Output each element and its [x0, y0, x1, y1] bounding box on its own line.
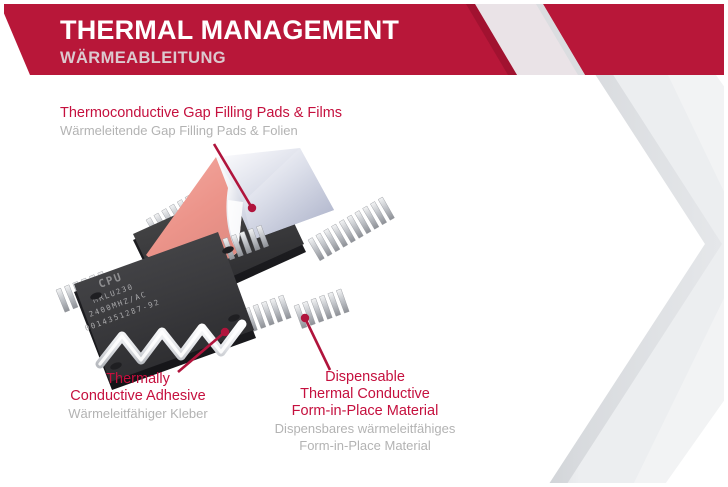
callout-fip-en-line-3: Form-in-Place Material	[255, 403, 475, 420]
lower-chip: CPU MRLU230 2400MHZ/AC 0014351287-92	[56, 225, 349, 390]
slide-canvas: THERMAL MANAGEMENT WÄRMEABLEITUNG	[0, 0, 728, 487]
chevron-outer-shape	[556, 0, 728, 487]
chevron-main-shape	[547, 0, 728, 487]
page-subtitle: WÄRMEABLEITUNG	[60, 48, 530, 68]
callout-thermally-conductive-adhesive: Thermally Conductive Adhesive Wärmeleitf…	[48, 371, 228, 422]
callout-adhesive-de-line-1: Wärmeleitfähiger Kleber	[48, 405, 228, 422]
page-title: THERMAL MANAGEMENT	[60, 14, 530, 46]
callout-form-in-place-material: Dispensable Thermal Conductive Form-in-P…	[255, 369, 475, 454]
callout-fip-en-line-1: Dispensable	[255, 369, 475, 386]
callout-fip-de-line-2: Form-in-Place Material	[255, 437, 475, 454]
callout-gap-filling-de-line-1: Wärmeleitende Gap Filling Pads & Folien	[60, 122, 342, 139]
callout-adhesive-en-line-2: Conductive Adhesive	[48, 388, 228, 405]
callout-gap-filling: Thermoconductive Gap Filling Pads & Film…	[60, 105, 342, 139]
header-chevron-overlay-edge	[536, 4, 585, 75]
callout-gap-filling-en-line-1: Thermoconductive Gap Filling Pads & Film…	[60, 105, 342, 122]
callout-fip-en-line-2: Thermal Conductive	[255, 386, 475, 403]
callout-adhesive-en-line-1: Thermally	[48, 371, 228, 388]
product-illustration: 0-06 TAIWAN C/16R 287-92 S4	[38, 140, 458, 390]
header-text-block: THERMAL MANAGEMENT WÄRMEABLEITUNG	[60, 4, 530, 68]
callout-fip-de-line-1: Dispensbares wärmeleitfähiges	[255, 420, 475, 437]
chevron-left-edge	[547, 0, 722, 487]
lower-chip-pins-right	[294, 289, 349, 329]
